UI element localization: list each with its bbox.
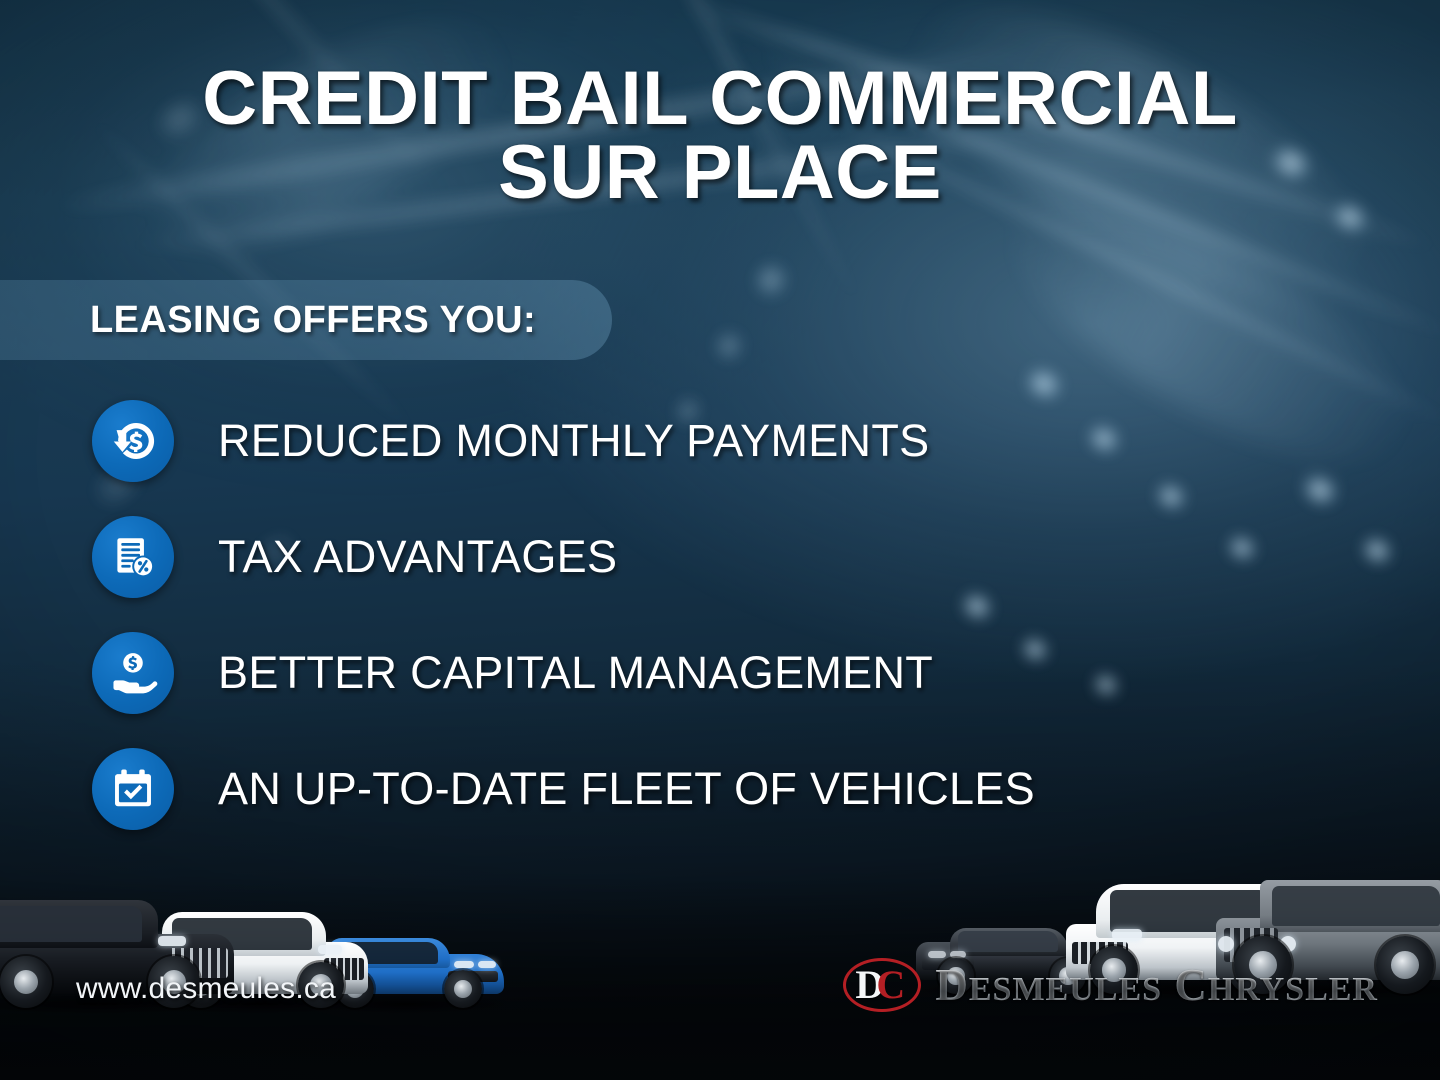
- benefit-label: AN UP-TO-DATE FLEET OF VEHICLES: [218, 763, 1035, 815]
- list-item: TAX ADVANTAGES: [92, 499, 1332, 615]
- page-title: CREDIT BAIL COMMERCIAL SUR PLACE: [0, 62, 1440, 211]
- logo-letter-c: C: [876, 965, 905, 1005]
- list-item: REDUCED MONTHLY PAYMENTS: [92, 383, 1332, 499]
- calendar-check-icon: [92, 748, 174, 830]
- logo-word-desmeules-rest: ESMEULES: [969, 971, 1162, 1008]
- benefits-list: REDUCED MONTHLY PAYMENTS TAX A: [92, 383, 1332, 847]
- benefit-label: BETTER CAPITAL MANAGEMENT: [218, 647, 933, 699]
- website-url[interactable]: www.desmeules.ca: [76, 972, 336, 1006]
- tax-document-percent-icon: [92, 516, 174, 598]
- title-line-2: SUR PLACE: [0, 136, 1440, 210]
- desmeules-chrysler-logo[interactable]: D C DESMEULES CHRYSLER: [843, 958, 1378, 1012]
- hand-holding-coin-icon: [92, 632, 174, 714]
- list-item: AN UP-TO-DATE FLEET OF VEHICLES: [92, 731, 1332, 847]
- title-line-1: CREDIT BAIL COMMERCIAL: [202, 56, 1238, 141]
- logo-word-chrysler-rest: HRYSLER: [1208, 971, 1378, 1008]
- logo-wordmark: DESMEULES CHRYSLER: [935, 959, 1378, 1011]
- logo-word-chrysler-initial: C: [1174, 960, 1208, 1010]
- list-item: BETTER CAPITAL MANAGEMENT: [92, 615, 1332, 731]
- banner-label: LEASING OFFERS YOU:: [90, 299, 536, 342]
- logo-word-desmeules-initial: D: [935, 960, 969, 1010]
- benefit-label: TAX ADVANTAGES: [218, 531, 617, 583]
- leasing-offers-banner: LEASING OFFERS YOU:: [0, 280, 612, 360]
- benefit-label: REDUCED MONTHLY PAYMENTS: [218, 415, 929, 467]
- promotional-slide: CREDIT BAIL COMMERCIAL SUR PLACE LEASING…: [0, 0, 1440, 1080]
- money-down-arrow-icon: [92, 400, 174, 482]
- dc-monogram-icon: D C: [843, 958, 921, 1012]
